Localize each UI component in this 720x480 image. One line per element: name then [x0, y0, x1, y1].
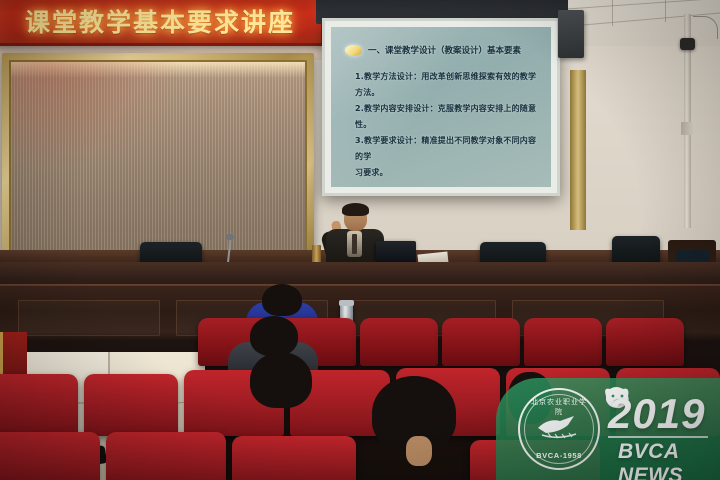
presentation-slide: 一、课堂教学设计（教案设计）基本要素 1.教学方法设计：用改革创新思维探索有效的… [331, 27, 551, 187]
audience-head [250, 352, 312, 408]
year-label: 2019 [608, 390, 705, 438]
bird-wheat-emblem-icon [534, 414, 584, 440]
panel-red-light-cast [11, 62, 187, 169]
seat [106, 432, 226, 480]
audience-neck [406, 436, 432, 466]
slide-line: 习要求。 [355, 165, 541, 181]
pipe-bracket [681, 122, 694, 135]
watermark-divider [608, 436, 708, 438]
ceiling-grid-line [612, 0, 613, 26]
slide-title: 一、课堂教学设计（教案设计）基本要素 [368, 44, 521, 56]
seat [84, 374, 178, 436]
microphone-head-icon [226, 234, 234, 240]
seat [0, 374, 78, 436]
leaf-bullet-icon [345, 45, 362, 56]
speaker-person [320, 205, 390, 267]
seat [524, 318, 602, 366]
audience-head [250, 316, 298, 356]
ceiling-grid-line [665, 0, 666, 22]
college-logo: 北京农业职业学院 BVCA-1958 [518, 388, 600, 470]
seat [232, 436, 356, 480]
seat [606, 318, 684, 366]
watermark-overlay: 北京农业职业学院 BVCA-1958 2019 BVCA NEWS [496, 378, 720, 480]
panel-fabric [9, 60, 307, 258]
security-camera-icon [680, 38, 695, 50]
cup-on-desk [312, 245, 321, 263]
event-banner: 课堂教学基本要求讲座 [0, 0, 324, 46]
slide-line: 2.教学内容安排设计：克服教学内容安排上的随意性。 [355, 101, 541, 133]
laptop-screen [376, 241, 416, 263]
slide-heading-row: 一、课堂教学设计（教案设计）基本要素 [345, 44, 543, 56]
slide-line: 3.教学要求设计：精准提出不同教学对象不同内容的学 [355, 133, 541, 165]
news-label: BVCA NEWS [618, 440, 720, 480]
seat [0, 432, 100, 480]
logo-english-name: BVCA-1958 [520, 451, 598, 460]
thermos-cap [339, 300, 354, 306]
slide-body: 1.教学方法设计：用改革创新思维探索有效的教学方法。 2.教学内容安排设计：克服… [355, 69, 541, 181]
gold-framed-wall-panel [2, 53, 314, 265]
wall-speaker-icon [558, 10, 584, 58]
projection-screen: 一、课堂教学设计（教案设计）基本要素 1.教学方法设计：用改革创新思维探索有效的… [322, 18, 560, 196]
lecture-hall-photo: 课堂教学基本要求讲座 一、课堂教学设计（教案设计）基本要素 1.教学方法设计：用… [0, 0, 720, 480]
speaker-hair [342, 203, 369, 216]
seat [360, 318, 438, 366]
seat [442, 318, 520, 366]
podium-panel [18, 300, 160, 336]
slide-line: 1.教学方法设计：用改革创新思维探索有效的教学方法。 [355, 69, 541, 101]
speaker-tie [352, 234, 357, 254]
audience-head [262, 284, 302, 316]
banner-title: 课堂教学基本要求讲座 [25, 3, 295, 39]
secondary-frame-edge [570, 70, 586, 230]
